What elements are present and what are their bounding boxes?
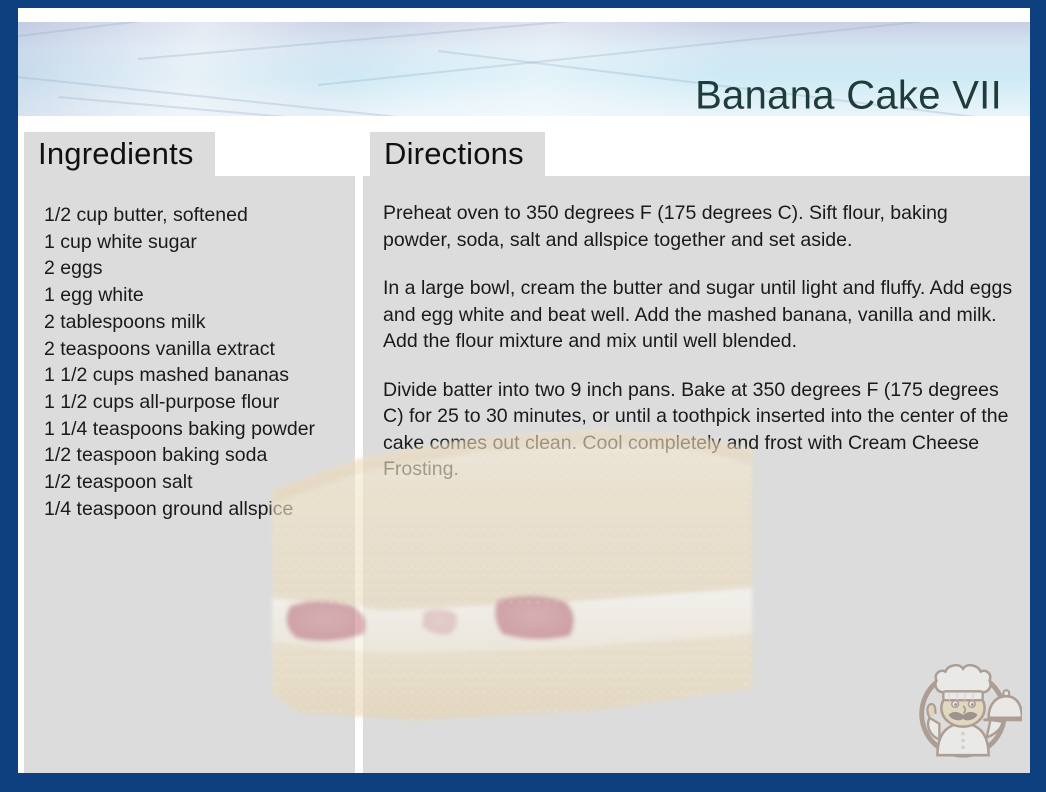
list-item: 1/2 teaspoon baking soda: [44, 442, 315, 469]
ingredients-heading-tab: Ingredients: [24, 132, 215, 176]
chef-with-cloche-logo: [904, 649, 1022, 767]
chef-figure: [927, 665, 1022, 755]
ingredients-panel: 1/2 cup butter, softened 1 cup white sug…: [24, 176, 355, 773]
directions-heading-label: Directions: [384, 136, 524, 172]
banner-streak: [18, 74, 535, 116]
directions-body: Preheat oven to 350 degrees F (175 degre…: [383, 200, 1013, 483]
banner-streak: [138, 22, 855, 60]
list-item: 2 teaspoons vanilla extract: [44, 336, 315, 363]
header-banner: Banana Cake VII: [18, 22, 1030, 116]
direction-paragraph: Divide batter into two 9 inch pans. Bake…: [383, 377, 1013, 483]
directions-heading-tab: Directions: [370, 132, 545, 176]
recipe-page: Banana Cake VII Ingredients Directions 1…: [18, 8, 1030, 773]
list-item: 2 eggs: [44, 255, 315, 282]
list-item: 1 1/2 cups mashed bananas: [44, 362, 315, 389]
direction-paragraph: In a large bowl, cream the butter and su…: [383, 275, 1013, 355]
list-item: 1/4 teaspoon ground allspice: [44, 496, 315, 523]
list-item: 1 cup white sugar: [44, 229, 315, 256]
ingredients-heading-label: Ingredients: [38, 136, 194, 172]
ingredients-list: 1/2 cup butter, softened 1 cup white sug…: [44, 202, 315, 522]
list-item: 1/2 cup butter, softened: [44, 202, 315, 229]
list-item: 2 tablespoons milk: [44, 309, 315, 336]
recipe-card: Banana Cake VII Ingredients Directions 1…: [0, 0, 1046, 792]
list-item: 1 egg white: [44, 282, 315, 309]
list-item: 1 1/4 teaspoons baking powder: [44, 416, 315, 443]
direction-paragraph: Preheat oven to 350 degrees F (175 degre…: [383, 200, 1013, 253]
page-title: Banana Cake VII: [695, 73, 1002, 116]
list-item: 1 1/2 cups all-purpose flour: [44, 389, 315, 416]
list-item: 1/2 teaspoon salt: [44, 469, 315, 496]
